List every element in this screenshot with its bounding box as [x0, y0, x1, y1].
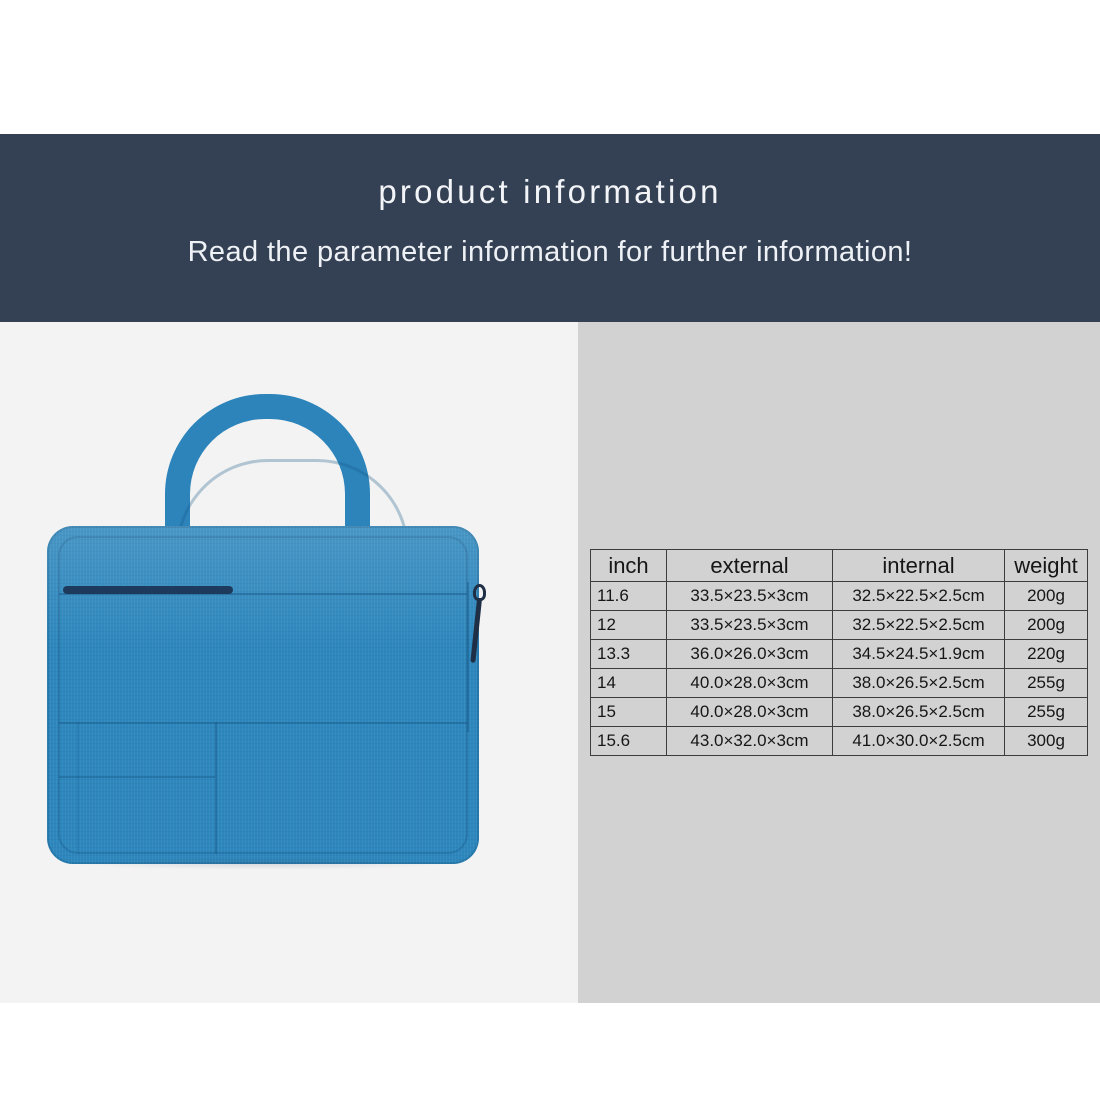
cell-external: 33.5×23.5×3cm [667, 582, 833, 611]
table-row: 15.6 43.0×32.0×3cm 41.0×30.0×2.5cm 300g [591, 727, 1088, 756]
horizontal-zipper-slot [63, 586, 233, 594]
table-row: 12 33.5×23.5×3cm 32.5×22.5×2.5cm 200g [591, 611, 1088, 640]
bag-body [47, 526, 479, 864]
cell-external: 36.0×26.0×3cm [667, 640, 833, 669]
table-row: 11.6 33.5×23.5×3cm 32.5×22.5×2.5cm 200g [591, 582, 1088, 611]
column-header-weight: weight [1005, 550, 1088, 582]
cell-internal: 38.0×26.5×2.5cm [833, 698, 1005, 727]
product-photo-panel [0, 322, 578, 1003]
table-header: inch external internal weight [591, 550, 1088, 582]
cell-weight: 200g [1005, 582, 1088, 611]
pocket-divider-seam [215, 722, 217, 854]
cell-internal: 41.0×30.0×2.5cm [833, 727, 1005, 756]
specification-table: inch external internal weight 11.6 33.5×… [590, 549, 1088, 756]
table-row: 13.3 36.0×26.0×3cm 34.5×24.5×1.9cm 220g [591, 640, 1088, 669]
cell-inch: 15 [591, 698, 667, 727]
cell-inch: 15.6 [591, 727, 667, 756]
table-row: 15 40.0×28.0×3cm 38.0×26.5×2.5cm 255g [591, 698, 1088, 727]
cell-internal: 38.0×26.5×2.5cm [833, 669, 1005, 698]
cell-weight: 300g [1005, 727, 1088, 756]
cell-external: 43.0×32.0×3cm [667, 727, 833, 756]
cell-inch: 12 [591, 611, 667, 640]
table-body: 11.6 33.5×23.5×3cm 32.5×22.5×2.5cm 200g … [591, 582, 1088, 756]
column-header-internal: internal [833, 550, 1005, 582]
table-row: 14 40.0×28.0×3cm 38.0×26.5×2.5cm 255g [591, 669, 1088, 698]
table-header-row: inch external internal weight [591, 550, 1088, 582]
slip-pocket-seam [59, 776, 215, 778]
header-banner: product information Read the parameter i… [0, 134, 1100, 322]
product-information-page: product information Read the parameter i… [0, 0, 1100, 1100]
main-zipper-track [467, 582, 469, 732]
zipper-pull-tab [470, 599, 482, 663]
cell-weight: 200g [1005, 611, 1088, 640]
cell-external: 40.0×28.0×3cm [667, 669, 833, 698]
fabric-texture [47, 526, 479, 864]
bag-drop-shadow [65, 856, 461, 870]
cell-inch: 13.3 [591, 640, 667, 669]
content-panels: inch external internal weight 11.6 33.5×… [0, 322, 1100, 1003]
cell-internal: 32.5×22.5×2.5cm [833, 611, 1005, 640]
spec-table-panel: inch external internal weight 11.6 33.5×… [578, 322, 1100, 1003]
page-subtitle: Read the parameter information for furth… [0, 234, 1100, 270]
page-title: product information [0, 172, 1100, 212]
cell-external: 40.0×28.0×3cm [667, 698, 833, 727]
cell-internal: 34.5×24.5×1.9cm [833, 640, 1005, 669]
cell-weight: 255g [1005, 698, 1088, 727]
cell-internal: 32.5×22.5×2.5cm [833, 582, 1005, 611]
column-header-external: external [667, 550, 833, 582]
product-image-laptop-bag [47, 394, 487, 864]
zipper-pull-icon [471, 584, 489, 664]
cell-external: 33.5×23.5×3cm [667, 611, 833, 640]
front-pocket-seam [59, 722, 467, 724]
left-edge-seam [77, 722, 79, 854]
cell-inch: 11.6 [591, 582, 667, 611]
column-header-inch: inch [591, 550, 667, 582]
cell-weight: 220g [1005, 640, 1088, 669]
cell-inch: 14 [591, 669, 667, 698]
cell-weight: 255g [1005, 669, 1088, 698]
